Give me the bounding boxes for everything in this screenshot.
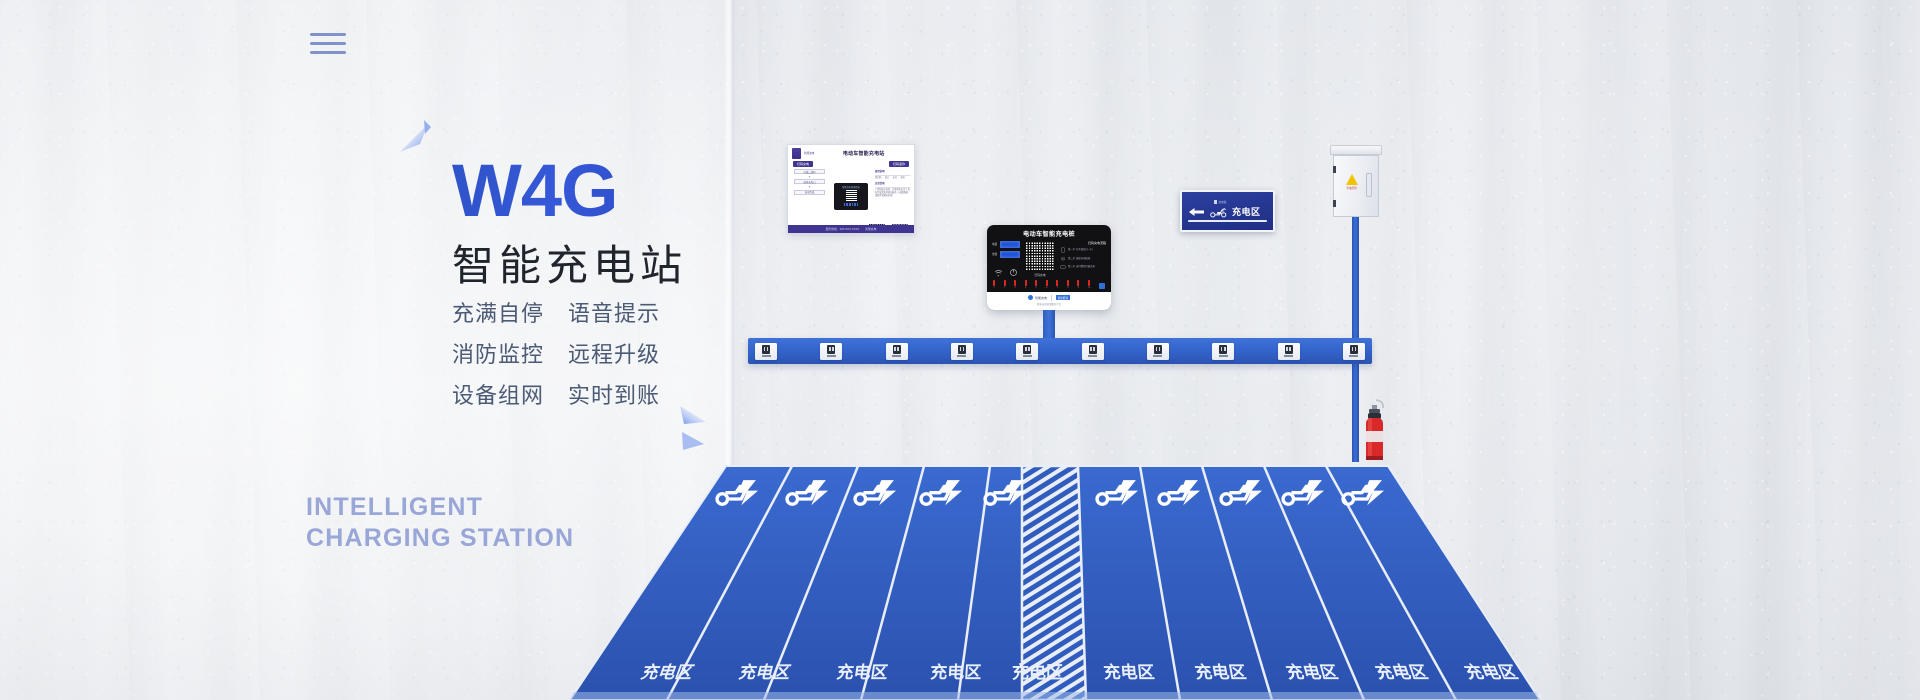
pile-brand-logo: 智能充电 [1028,295,1047,300]
feature-item: 语音提示 [568,296,660,328]
svg-text:充电区: 充电区 [835,662,889,682]
poster-logo-text: 智能充电 [804,152,814,155]
pile-led: 9 [1077,280,1079,289]
menu-bar-2 [310,42,346,45]
divider [875,187,910,188]
sign-underline [1188,220,1267,222]
phone-icon [1060,247,1066,253]
poster-notes-line: 请扫码 → 选口 → 支付 → 充电 [875,177,910,180]
charging-socket[interactable] [755,343,777,360]
svg-text:充电区: 充电区 [1373,662,1431,681]
page-title: W4G [452,156,712,226]
poster-device-illustration: 智能充电管理终端 [829,169,873,223]
charging-socket[interactable] [820,343,842,360]
menu-bar-1 [310,33,346,36]
poster-footer: 服务热线：400-XXX-XXXX 智能充电 [788,225,914,233]
pile-footer-sub: 智能充电管理服务平台 [987,302,1111,306]
pile-instruction-row: 第三步 支付费用开始充电 [1060,264,1106,270]
pile-led: 8 [1067,280,1069,289]
pile-led: 7 [1056,280,1058,289]
direction-sign: 充电站 充电区 [1180,190,1275,232]
socket-led [1153,355,1162,357]
svg-text:充电区: 充电区 [1103,662,1156,682]
socket-led [1284,355,1293,357]
extinguisher-label [1366,431,1383,442]
pile-main: 电量 金额 [987,241,1111,279]
info-poster: 智能充电 电动车智能充电站 扫码充电 扫码退款 扫描二维码 ▼ 选择充电口 ▼ … [787,144,915,234]
pile-footer-row: 智能充电 智慧能源 [987,295,1111,301]
pile-led: 10 [1088,280,1090,289]
pile-led: 2 [1004,280,1006,289]
pile-display-screen [1000,251,1020,258]
charging-pile: 电动车智能充电桩 电量 金额 [987,225,1111,310]
qr-code-icon [1025,241,1055,271]
socket-face [1219,345,1227,354]
poster-badge-left: 扫码充电 [793,161,813,167]
poster-notes-text: 1.请勿私拉电线，注意用电安全 2.充电完成请及时拔出插头 3.如遇故障请联系管… [875,189,910,199]
pile-icon-row [992,268,1020,277]
poster-header: 智能充电 电动车智能充电站 [788,145,914,160]
socket-led [1219,355,1228,357]
hero-banner: W4G 智能充电站 充满自停 语音提示 消防监控 远程升级 设备组网 实时到账 … [0,0,1920,700]
led [854,203,856,207]
bay-label: 充电区 [835,662,889,682]
socket-led [1023,355,1032,357]
menu-bar-3 [310,51,346,54]
socket-face [1285,345,1293,354]
hero-subtitle: 智能充电站 [452,232,712,293]
pile-display-label: 金额 [992,253,998,256]
sign-label: 充电区 [1232,205,1261,218]
charging-socket[interactable] [886,343,908,360]
fire-extinguisher [1362,398,1388,466]
wifi-signal-icon [994,268,1003,277]
pile-display-screen [1000,241,1020,248]
scooter-icon [1209,206,1228,218]
divider [875,175,910,176]
pile-led: 6 [1046,280,1048,289]
extinguisher-hose [1376,400,1383,408]
pile-display-row: 金额 [992,251,1020,258]
bay-label: 充电区 [1103,662,1156,682]
bay-label: 充电区 [639,663,697,682]
wallet-icon [1060,264,1066,270]
pile-instructions-title: 扫码充电流程 [1060,241,1106,245]
poster-step: 选择充电口 [794,179,826,184]
feature-list: 充满自停 语音提示 消防监控 远程升级 设备组网 实时到账 [452,296,692,419]
svg-text:充电区: 充电区 [1012,662,1063,682]
socket-face [1350,345,1358,354]
bay-label: 充电区 [930,662,982,682]
cabinet-hinge [1333,166,1336,173]
chevron-down-icon: ▼ [808,186,811,188]
charging-socket[interactable] [951,343,973,360]
bay-label: 充电区 [1012,662,1063,682]
charging-socket[interactable] [1343,343,1365,360]
poster-notes-title-2: 注意事项 [875,181,910,185]
pile-displays: 电量 金额 [992,241,1020,277]
pile-pole [1043,310,1055,338]
led [844,203,846,207]
svg-text:充电区: 充电区 [930,662,982,682]
socket-led [762,355,771,357]
pile-instruction-text: 第三步 支付费用开始充电 [1068,265,1095,268]
pile-led: 1 [993,280,995,289]
pile-panel: 电动车智能充电桩 电量 金额 [987,225,1111,310]
device-label: 智能充电管理终端 [842,185,860,189]
poster-notes: 使用说明 请扫码 → 选口 → 支付 → 充电 注意事项 1.请勿私拉电线，注意… [875,169,910,223]
pile-instructions: 扫码充电流程 第一步 打开微信扫一扫 第二步 选择充电插座 [1060,241,1106,277]
bay-label: 充电区 [1461,662,1521,682]
socket-led [957,355,966,357]
socket-led [1088,355,1097,357]
svg-text:充电区: 充电区 [1461,662,1521,682]
parking-floor-svg: 充电区 充电区 充电区 充电区 充电区 充电区 充电区 [0,440,1920,700]
feature-item: 设备组网 [452,378,544,410]
socket-led [827,355,836,357]
feature-row: 消防监控 远程升级 [452,337,692,369]
cabinet-vent [1366,173,1372,197]
charging-rail [748,338,1372,364]
poster-notes-title-1: 使用说明 [875,169,910,173]
pile-display-row: 电量 [992,241,1020,248]
feature-item: 充满自停 [452,296,544,328]
pile-instruction-text: 第一步 打开微信扫一扫 [1068,248,1093,251]
pile-display-label: 电量 [992,243,998,246]
svg-text:充电区: 充电区 [737,662,793,682]
charging-socket[interactable] [1016,343,1038,360]
charging-socket[interactable] [1278,343,1300,360]
feature-item: 远程升级 [568,337,660,369]
poster-title: 电动车智能充电站 [817,150,910,157]
poster-badge-right: 扫码退款 [889,161,909,167]
chevron-down-icon: ▼ [808,176,811,178]
bay-label: 充电区 [737,662,793,682]
pile-footer: 智能充电 智慧能源 智能充电管理服务平台 [987,292,1111,311]
parking-floor: 充电区 充电区 充电区 充电区 充电区 充电区 充电区 [0,440,1920,700]
bay-label: 充电区 [1373,662,1431,681]
socket-face [893,345,901,354]
bay-label: 充电区 [1284,662,1340,682]
charging-socket[interactable] [1147,343,1169,360]
warning-triangle [1346,174,1358,185]
plug-icon [1060,256,1066,262]
pile-led-indicators: 1 2 3 4 5 6 7 8 9 10 [987,279,1111,292]
device-led-row [844,203,859,207]
socket-face [762,345,770,354]
floor-front-edge [570,692,1540,700]
poster-footer-left: 服务热线：400-XXX-XXXX [826,227,860,231]
left-arrow-icon [1188,206,1205,218]
qr-code-icon [846,190,857,201]
pile-instruction-row: 第二步 选择充电插座 [1060,256,1106,262]
charging-socket[interactable] [1212,343,1234,360]
sign-content: 充电区 [1182,205,1273,218]
company-logo-icon [792,148,801,159]
socket-face [1154,345,1162,354]
pile-instruction-text: 第二步 选择充电插座 [1068,257,1090,260]
socket-face [958,345,966,354]
plug-socket-icon [1099,283,1105,289]
led [852,203,854,207]
socket-led [892,355,901,357]
poster-footer-right: 智能充电 [865,227,876,231]
led [857,203,859,207]
decorative-arrow-top [398,118,434,158]
svg-text:充电区: 充电区 [1284,662,1340,682]
cabinet-roof [1330,145,1382,155]
svg-text:充电区: 充电区 [639,663,697,682]
pile-qr-area: 扫码充电 [1023,241,1057,277]
socket-face [1023,345,1031,354]
pile-qr-caption: 扫码充电 [1034,273,1045,277]
device-body: 智能充电管理终端 [834,183,868,210]
socket-face [1089,345,1097,354]
feature-item: 消防监控 [452,337,544,369]
pile-led: 4 [1025,280,1027,289]
socket-face [827,345,835,354]
feature-row: 充满自停 语音提示 [452,296,692,328]
electrical-cabinet: 有电危险 [1330,145,1382,217]
pile-led: 5 [1035,280,1037,289]
led [849,203,851,207]
power-button-icon [1009,268,1018,277]
svg-text:充电区: 充电区 [1193,662,1247,682]
socket-led [1349,355,1358,357]
company-logo-icon [1214,200,1217,204]
warning-text: 有电危险 [1345,186,1358,190]
feature-row: 设备组网 实时到账 [452,378,692,410]
pile-footer-brand: 智能充电 [1035,296,1047,300]
charging-socket[interactable] [1082,343,1104,360]
divider [1051,295,1052,301]
poster-step: 扫描二维码 [794,169,826,174]
poster-steps-left: 扫描二维码 ▼ 选择充电口 ▼ 充电完成 [792,169,827,223]
high-voltage-warning-icon: 有电危险 [1345,174,1358,190]
led [846,203,848,207]
hamburger-menu-icon[interactable] [310,33,346,55]
cabinet-body: 有电危险 [1333,155,1379,217]
pile-led: 3 [1014,280,1016,289]
bay-label: 充电区 [1193,662,1247,682]
sign-logo-text: 充电站 [1219,200,1227,204]
poster-body: 扫描二维码 ▼ 选择充电口 ▼ 充电完成 智能充电管理终端 使用 [788,167,914,223]
pile-footer-badge: 智慧能源 [1056,295,1070,300]
logo-dot-icon [1028,295,1033,300]
extinguisher-handle [1369,409,1380,413]
feature-item: 实时到账 [568,378,660,410]
cabinet-hinge [1333,200,1336,207]
poster-step: 充电完成 [794,190,826,195]
pile-title: 电动车智能充电桩 [987,225,1111,241]
hero-headline: W4G 智能充电站 [452,156,712,293]
pile-instruction-row: 第一步 打开微信扫一扫 [1060,247,1106,253]
sign-logo-row: 充电站 [1182,200,1273,204]
